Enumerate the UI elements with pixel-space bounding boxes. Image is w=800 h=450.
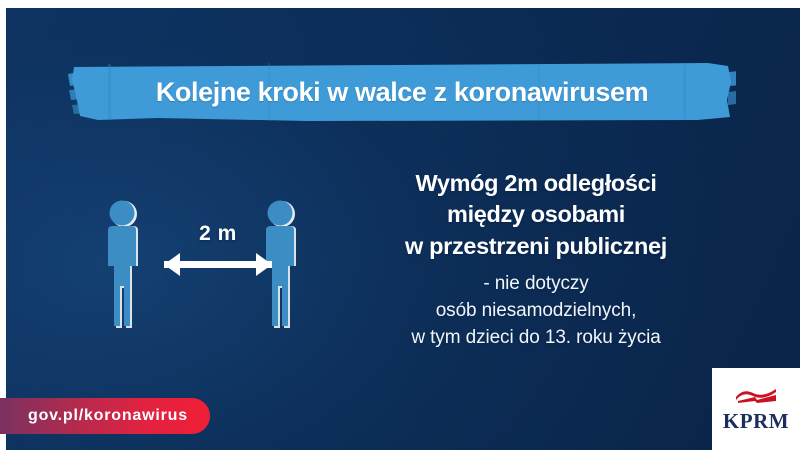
distance-arrow-icon (164, 253, 272, 276)
headline-line-2: między osobami (356, 199, 716, 230)
person-figure-left (108, 201, 138, 329)
message-headline: Wymóg 2m odległości między osobami w prz… (356, 168, 716, 262)
kprm-logo-text: KPRM (723, 409, 789, 434)
url-badge-label: gov.pl/koronawirus (28, 407, 188, 425)
infographic-poster: Kolejne kroki w walce z koronawirusem (0, 0, 800, 450)
message-block: Wymóg 2m odległości między osobami w prz… (356, 168, 716, 352)
social-distance-illustration: 2 m (92, 196, 344, 336)
headline-line-1: Wymóg 2m odległości (356, 168, 716, 199)
url-badge[interactable]: gov.pl/koronawirus (0, 398, 210, 434)
header-banner: Kolejne kroki w walce z koronawirusem (68, 62, 736, 122)
figures-and-arrow-graphic (92, 196, 344, 336)
subtext-line-2: osób niesamodzielnych, (356, 298, 716, 325)
poster-title: Kolejne kroki w walce z koronawirusem (68, 62, 736, 122)
distance-label: 2 m (166, 222, 270, 246)
message-subtext: - nie dotyczy osób niesamodzielnych, w t… (356, 271, 716, 352)
kprm-logo: KPRM (712, 368, 800, 450)
subtext-line-3: w tym dzieci do 13. roku życia (356, 325, 716, 352)
polish-flag-wave-icon (733, 384, 779, 404)
subtext-line-1: - nie dotyczy (356, 271, 716, 298)
headline-line-3: w przestrzeni publicznej (356, 231, 716, 262)
